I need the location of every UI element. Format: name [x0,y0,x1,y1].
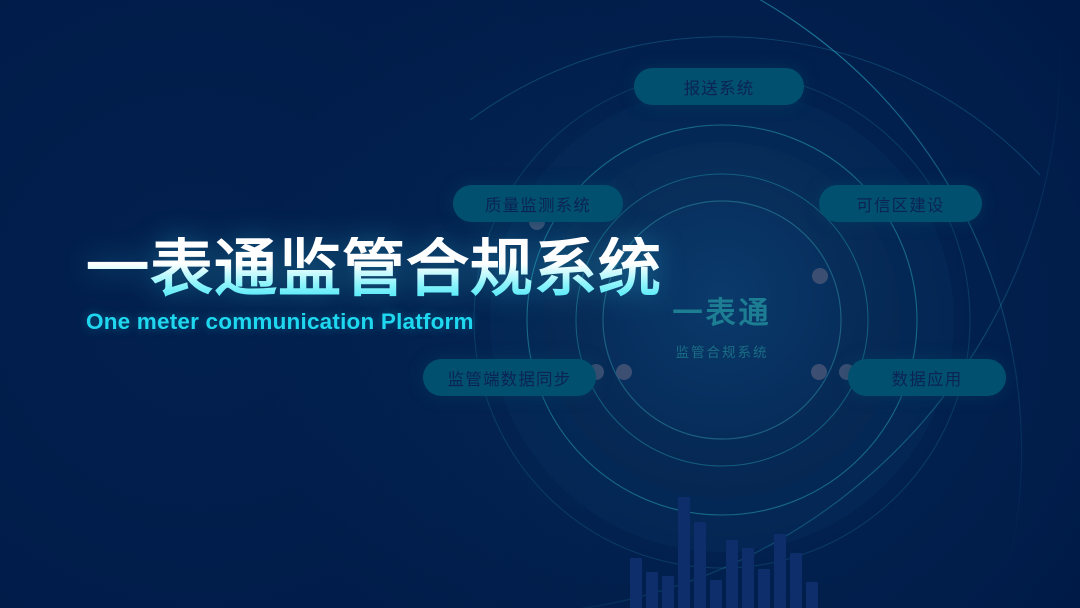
node-pill-quality[interactable]: 质量监测系统 [453,185,623,222]
bar [758,569,770,608]
page-title: 一表通监管合规系统 [86,237,662,303]
node-pill-data[interactable]: 数据应用 [848,359,1006,396]
bar [806,582,818,608]
hero-title-block: 一表通监管合规系统 One meter communication Platfo… [86,237,662,335]
node-pill-sync[interactable]: 监管端数据同步 [423,359,596,396]
hub-descriptor: 监管合规系统 [642,341,802,361]
node-dot-icon-data [811,364,827,380]
slide-canvas: 一表通监管合规系统 One meter communication Platfo… [0,0,1080,608]
bar [774,534,786,608]
page-subtitle: One meter communication Platform [86,309,662,335]
node-pill-trust[interactable]: 可信区建设 [819,185,982,222]
bar [662,576,674,608]
hub-title: 一表通 [642,288,802,332]
node-pill-report[interactable]: 报送系统 [634,68,804,105]
bar [694,522,706,608]
decorative-bar-chart [630,488,830,608]
node-dot-icon-trust [812,268,828,284]
bar [742,548,754,608]
bar [710,580,722,608]
node-dot-icon-sync [616,364,632,380]
bar [790,553,802,608]
bar [630,558,642,608]
bar [678,497,690,608]
bar [646,572,658,608]
bar [726,540,738,608]
hub-label: 一表通 监管合规系统 [642,288,802,361]
